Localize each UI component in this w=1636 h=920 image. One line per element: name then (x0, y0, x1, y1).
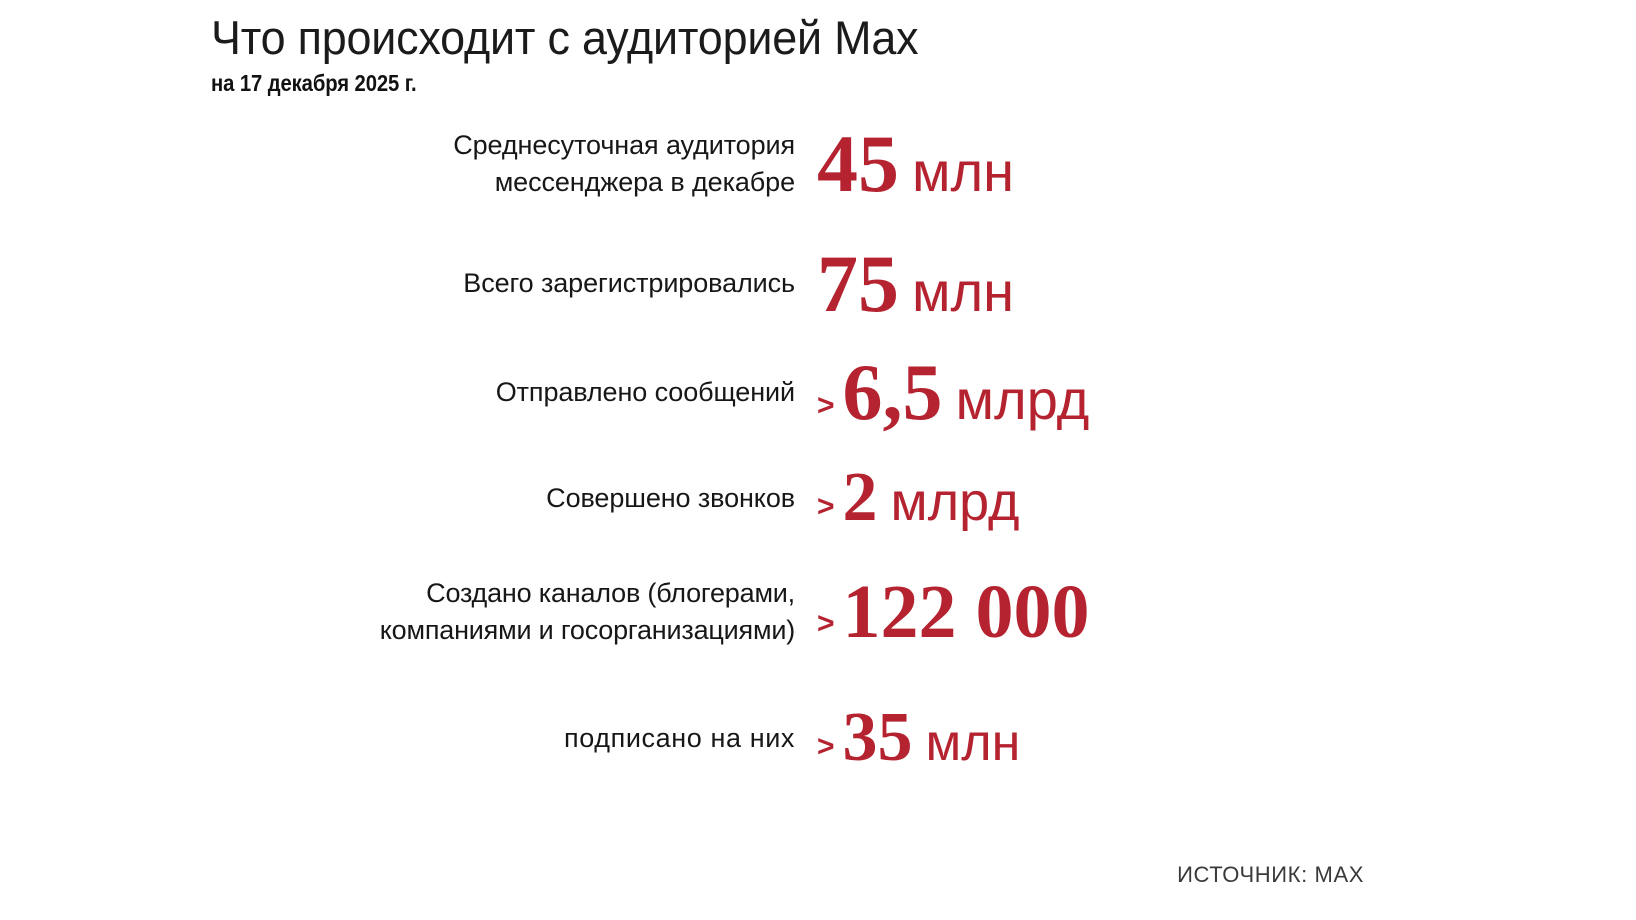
stat-label: Совершено звонков (0, 480, 795, 517)
stat-number: 45 (817, 125, 899, 203)
page-subtitle: на 17 декабря 2025 г. (211, 70, 1179, 97)
stat-label-line: Совершено звонков (0, 480, 795, 517)
stat-unit: млрд (891, 475, 1020, 529)
stat-value: > 122 000 (795, 576, 1636, 648)
stat-number: 35 (843, 705, 913, 772)
stat-unit: млн (926, 717, 1021, 769)
stat-label-line: Создано каналов (блогерами, (0, 575, 795, 612)
list-item: подписано на них > 35 млн (0, 705, 1636, 772)
stat-unit: млн (912, 264, 1014, 320)
stat-number: 122 000 (843, 576, 1090, 648)
stat-value: > 35 млн (795, 705, 1636, 772)
infographic-root: Что происходит с аудиторией Max на 17 де… (0, 0, 1636, 920)
stat-label-line: компаниями и госорганизациями) (0, 612, 795, 649)
stat-label-line: Среднесуточная аудитория (0, 127, 795, 164)
stat-value: 75 млн (795, 245, 1636, 323)
greater-than-icon: > (817, 732, 835, 762)
list-item: Отправлено сообщений > 6,5 млрд (0, 355, 1636, 431)
stat-label-line: подписано на них (0, 720, 795, 757)
stat-number: 6,5 (843, 355, 943, 431)
stat-label-line: мессенджера в декабре (0, 164, 795, 201)
stat-unit: млн (912, 144, 1014, 200)
stat-number: 2 (843, 465, 878, 532)
stat-label: Среднесуточная аудитория мессенджера в д… (0, 127, 795, 202)
stat-label: Всего зарегистрировались (0, 265, 795, 302)
list-item: Среднесуточная аудитория мессенджера в д… (0, 125, 1636, 203)
list-item: Совершено звонков > 2 млрд (0, 465, 1636, 532)
greater-than-icon: > (817, 391, 835, 421)
list-item: Создано каналов (блогерами, компаниями и… (0, 575, 1636, 650)
stat-value: > 6,5 млрд (795, 355, 1636, 431)
stat-label: Отправлено сообщений (0, 374, 795, 411)
greater-than-icon: > (817, 609, 835, 639)
stat-label-line: Отправлено сообщений (0, 374, 795, 411)
source-attribution: ИСТОЧНИК: MAX (1177, 862, 1364, 888)
stat-label: Создано каналов (блогерами, компаниями и… (0, 575, 795, 650)
stat-label: подписано на них (0, 720, 795, 757)
stat-value: > 2 млрд (795, 465, 1636, 532)
stat-value: 45 млн (795, 125, 1636, 203)
stat-number: 75 (817, 245, 899, 323)
list-item: Всего зарегистрировались 75 млн (0, 245, 1636, 323)
stat-unit: млрд (956, 372, 1090, 428)
page-title: Что происходит с аудиторией Max (211, 12, 1262, 65)
greater-than-icon: > (817, 492, 835, 522)
stat-label-line: Всего зарегистрировались (0, 265, 795, 302)
header: Что происходит с аудиторией Max на 17 де… (211, 12, 1311, 97)
